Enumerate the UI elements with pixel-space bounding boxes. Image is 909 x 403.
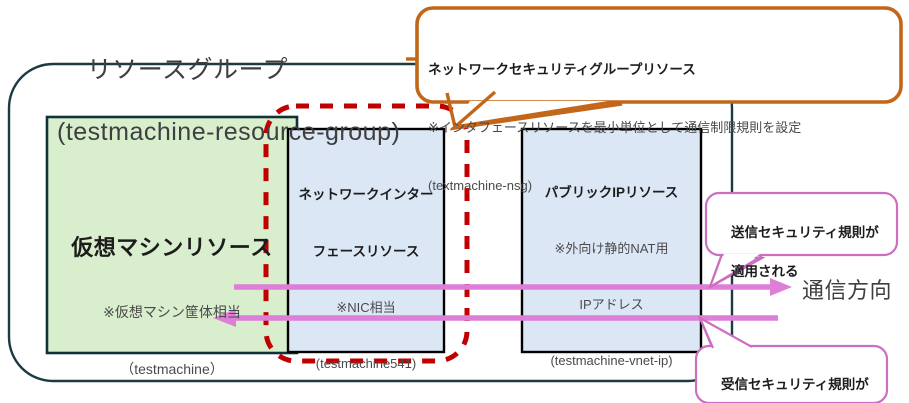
nic-note: ※NIC相当	[288, 300, 444, 317]
inbound-callout-line1: 受信セキュリティ規則が	[721, 377, 869, 392]
virtual-machine-label: 仮想マシンリソース ※仮想マシン筐体相当 （testmachine）	[47, 196, 297, 403]
outbound-callout-line2: 適用される	[731, 264, 799, 279]
nsg-heading: ネットワークセキュリティグループリソース	[428, 61, 848, 80]
diagram-canvas: リソースグループ (testmachine-resource-group) 仮想…	[0, 0, 909, 403]
vm-name: （testmachine）	[47, 361, 297, 378]
public-ip-note-line2: IPアドレス	[522, 297, 701, 314]
nsg-note: ※インタフェースリソースを最小単位として通信制限規則を設定	[428, 119, 848, 138]
resource-group-title-line2: (testmachine-resource-group)	[57, 117, 400, 148]
inbound-callout-label: 受信セキュリティ規則が 適用される	[706, 355, 886, 403]
nic-heading-line1: ネットワークインター	[288, 186, 444, 204]
nsg-name: (textmachine-nsg)	[428, 177, 848, 196]
outbound-callout-line1: 送信セキュリティ規則が	[731, 225, 879, 240]
nic-name: (testmachine541)	[288, 356, 444, 373]
vm-note: ※仮想マシン筐体相当	[47, 304, 297, 321]
network-interface-label: ネットワークインター フェースリソース ※NIC相当 (testmachine5…	[288, 147, 444, 403]
public-ip-name: (testmachine-vnet-ip)	[522, 353, 701, 370]
communication-direction-label: 通信方向	[802, 278, 892, 305]
nic-heading-line2: フェースリソース	[288, 243, 444, 261]
public-ip-note-line1: ※外向け静的NAT用	[522, 241, 701, 258]
resource-group-title-line1: リソースグループ	[87, 56, 288, 84]
vm-heading: 仮想マシンリソース	[47, 235, 297, 262]
